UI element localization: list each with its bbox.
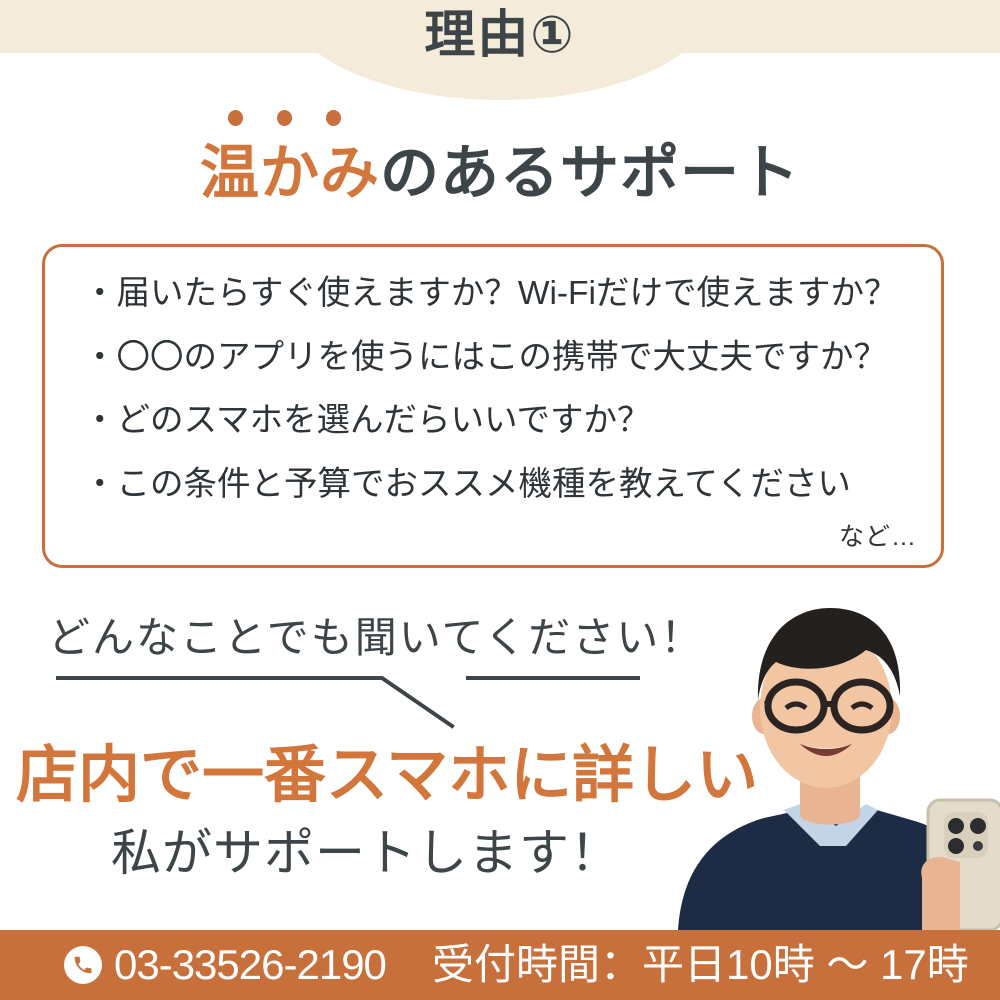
phone-handset-glyph [72,954,94,976]
headline-secondary: 私がサポートします！ [16,826,716,881]
footer-phone-number[interactable]: 03-33526-2190 [114,944,386,986]
footer-business-hours: 受付時間：平日10時 〜 17時 [432,944,969,986]
reason-badge-label: 理由① [0,8,1000,62]
headline-primary: 店内で一番スマホに詳しい [16,742,732,810]
list-item: ・どのスマホを選んだらいいですか？ [83,404,923,438]
list-item: ・〇〇のアプリを使うにはこの携帯で大丈夫ですか？ [83,341,923,375]
emphasis-dot-icon [326,110,341,126]
emphasis-dots [228,110,348,128]
emphasis-dot-icon [277,110,292,126]
ask-anything-text: どんなことでも聞いてください！ [48,604,704,665]
emphasis-dot-icon [228,110,243,126]
question-list-box: ・届いたらすぐ使えますか？Wi-Fiだけで使えますか？ ・〇〇のアプリを使うには… [42,244,944,568]
list-item: ・この条件と予算でおススメ機種を教えてください [83,468,923,502]
section-title: 温かみのあるサポート [0,140,1000,208]
phone-handset-icon [64,946,102,984]
etcetera-label: など… [839,517,917,553]
speech-tail-underline-icon [40,664,660,734]
section-title-highlight: 温かみ [200,140,380,206]
contact-footer-bar: 03-33526-2190 受付時間：平日10時 〜 17時 [0,930,1000,1000]
question-list: ・届いたらすぐ使えますか？Wi-Fiだけで使えますか？ ・〇〇のアプリを使うには… [83,277,923,501]
section-title-rest: のあるサポート [380,140,800,206]
list-item: ・届いたらすぐ使えますか？Wi-Fiだけで使えますか？ [83,277,923,311]
